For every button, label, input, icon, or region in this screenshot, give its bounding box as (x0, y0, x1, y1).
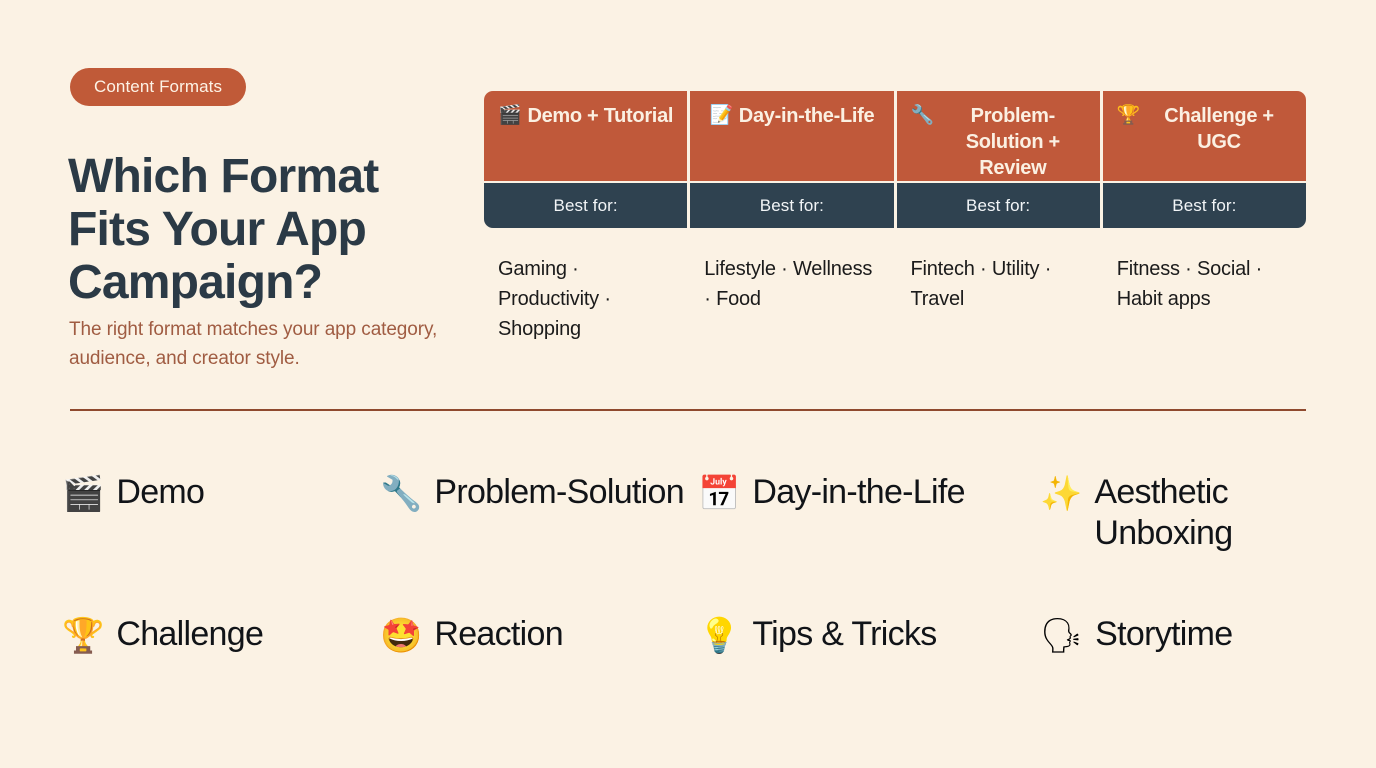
table-column-problem-solution-review: 🔧Problem-Solution + Review Best for: Fin… (897, 91, 1100, 344)
format-label: Storytime (1095, 614, 1232, 655)
format-item-reaction: 🤩 Reaction (380, 614, 698, 658)
format-label: Reaction (434, 614, 563, 655)
column-header: 🏆Challenge + UGC (1103, 91, 1306, 181)
wrench-icon: 🔧 (380, 472, 422, 516)
clapper-board-icon: 🎬 (498, 103, 521, 129)
format-label: Problem-Solution (434, 472, 684, 513)
best-for-label: Best for: (1103, 183, 1306, 228)
format-item-demo: 🎬 Demo (62, 472, 380, 554)
column-header: 🎬Demo + Tutorial (484, 91, 687, 181)
section-divider (70, 409, 1306, 411)
column-header: 🔧Problem-Solution + Review (897, 91, 1100, 181)
column-header: 📝Day-in-the-Life (690, 91, 893, 181)
column-title: Problem-Solution + Review (940, 103, 1086, 181)
format-label: Day-in-the-Life (752, 472, 964, 513)
memo-icon: 📝 (709, 103, 732, 129)
best-for-value: Lifestyle · Wellness · Food (690, 228, 893, 314)
format-item-challenge: 🏆 Challenge (62, 614, 380, 658)
best-for-value: Fitness · Social · Habit apps (1103, 228, 1306, 314)
table-column-day-in-the-life: 📝Day-in-the-Life Best for: Lifestyle · W… (690, 91, 893, 344)
format-item-tips-and-tricks: 💡 Tips & Tricks (698, 614, 1040, 658)
page-subtitle: The right format matches your app catego… (69, 315, 469, 373)
infographic-canvas: Content Formats Which Format Fits Your A… (0, 0, 1376, 768)
star-struck-icon: 🤩 (380, 614, 422, 658)
calendar-icon: 📅 (698, 472, 740, 516)
format-item-aesthetic-unboxing: ✨ Aesthetic Unboxing (1040, 472, 1312, 554)
sparkles-icon: ✨ (1040, 472, 1082, 516)
format-comparison-table: 🎬Demo + Tutorial Best for: Gaming · Prod… (484, 91, 1306, 344)
format-item-storytime: 🗣 Storytime (1040, 614, 1312, 658)
format-item-day-in-the-life: 📅 Day-in-the-Life (698, 472, 1040, 554)
column-title: Demo + Tutorial (527, 103, 673, 129)
speaking-head-icon: 🗣 (1040, 614, 1083, 658)
trophy-icon: 🏆 (62, 614, 104, 658)
best-for-value: Fintech · Utility · Travel (897, 228, 1100, 314)
best-for-label: Best for: (897, 183, 1100, 228)
format-label: Demo (116, 472, 204, 513)
light-bulb-icon: 💡 (698, 614, 740, 658)
table-column-demo-tutorial: 🎬Demo + Tutorial Best for: Gaming · Prod… (484, 91, 687, 344)
format-item-problem-solution: 🔧 Problem-Solution (380, 472, 698, 554)
best-for-label: Best for: (484, 183, 687, 228)
column-title: Day-in-the-Life (739, 103, 875, 129)
content-formats-badge: Content Formats (70, 68, 246, 106)
trophy-icon: 🏆 (1117, 103, 1140, 129)
wrench-icon: 🔧 (911, 103, 934, 129)
column-title: Challenge + UGC (1146, 103, 1292, 155)
format-label: Tips & Tricks (752, 614, 936, 655)
format-label: Challenge (116, 614, 263, 655)
clapper-board-icon: 🎬 (62, 472, 104, 516)
format-list-grid: 🎬 Demo 🔧 Problem-Solution 📅 Day-in-the-L… (62, 472, 1312, 658)
best-for-value: Gaming · Productivity · Shopping (484, 228, 687, 344)
table-column-challenge-ugc: 🏆Challenge + UGC Best for: Fitness · Soc… (1103, 91, 1306, 344)
best-for-label: Best for: (690, 183, 893, 228)
page-title: Which Format Fits Your App Campaign? (68, 150, 468, 309)
format-label: Aesthetic Unboxing (1094, 472, 1312, 554)
